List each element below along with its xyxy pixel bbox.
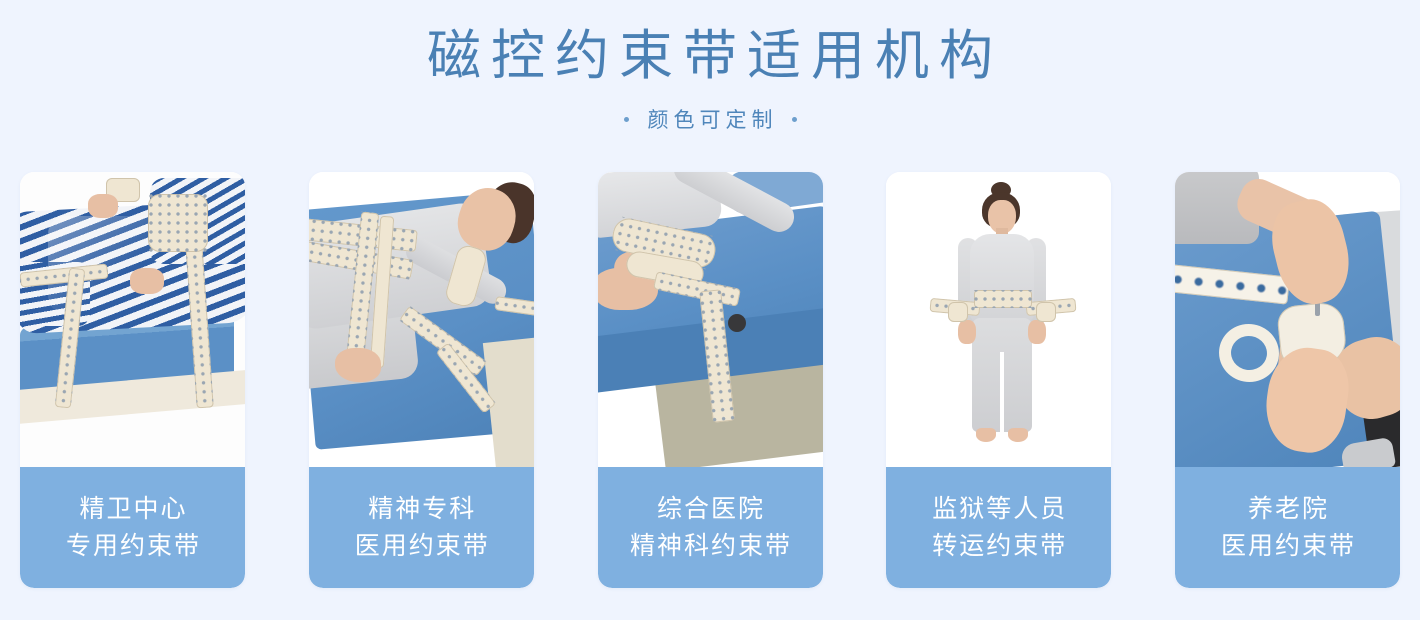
left-dot-icon [624, 117, 629, 122]
chest-harness-shape [148, 194, 208, 252]
patient-chest-restraint-hospital-bed-photo [309, 172, 534, 467]
patient-hand-shape [335, 348, 381, 382]
card-caption: 监狱等人员 转运约束带 [886, 467, 1111, 588]
caption-line-1: 综合医院 [655, 494, 765, 525]
caption-line-2: 转运约束带 [930, 531, 1067, 562]
caregiver-fastening-wrist-strap-photo [1175, 172, 1400, 467]
caption-line-1: 养老院 [1246, 494, 1329, 525]
magnetic-lock-knob-shape [728, 314, 746, 332]
wrist-restraint-bed-rail-closeup-photo [598, 172, 823, 467]
card-item[interactable]: 综合医院 精神科约束带 [598, 172, 823, 588]
left-hand-shape [958, 320, 976, 344]
left-foot-shape [976, 428, 996, 442]
right-hand-shape [1028, 320, 1046, 344]
promo-banner: 磁控约束带适用机构 颜色可定制 [0, 0, 1420, 620]
caption-line-2: 医用约束带 [1219, 531, 1356, 562]
card-caption: 精神专科 医用约束带 [309, 467, 534, 588]
card-caption: 养老院 医用约束带 [1175, 467, 1400, 588]
waist-belt-shape [974, 290, 1032, 308]
patient-hand-upper-shape [88, 194, 118, 218]
right-wrist-cuff-shape [1036, 302, 1056, 322]
left-wrist-cuff-shape [948, 302, 968, 322]
restrained-patient-striped-pajamas-photo [20, 172, 245, 467]
card-item[interactable]: 养老院 医用约束带 [1175, 172, 1400, 588]
caption-line-1: 精神专科 [366, 494, 476, 525]
subtitle-row: 颜色可定制 [0, 104, 1420, 134]
card-item[interactable]: 精卫中心 专用约束带 [20, 172, 245, 588]
banner-header: 磁控约束带适用机构 颜色可定制 [0, 0, 1420, 134]
caption-line-2: 医用约束带 [353, 531, 490, 562]
card-grid: 精卫中心 专用约束带 [20, 172, 1400, 588]
page-title: 磁控约束带适用机构 [0, 26, 1420, 86]
caption-line-2: 精神科约束带 [628, 531, 792, 562]
caption-line-2: 专用约束带 [64, 531, 201, 562]
standing-woman-transport-waist-belt-photo [886, 172, 1111, 467]
right-dot-icon [792, 117, 797, 122]
caption-line-1: 精卫中心 [77, 494, 187, 525]
card-item[interactable]: 精神专科 医用约束带 [309, 172, 534, 588]
page-subtitle: 颜色可定制 [643, 104, 778, 134]
card-caption: 综合医院 精神科约束带 [598, 467, 823, 588]
patient-hand-lower-shape [130, 268, 164, 294]
card-item[interactable]: 监狱等人员 转运约束带 [886, 172, 1111, 588]
caption-line-1: 监狱等人员 [930, 494, 1067, 525]
card-caption: 精卫中心 专用约束带 [20, 467, 245, 588]
right-foot-shape [1008, 428, 1028, 442]
leg-gap-shape [1000, 352, 1004, 432]
